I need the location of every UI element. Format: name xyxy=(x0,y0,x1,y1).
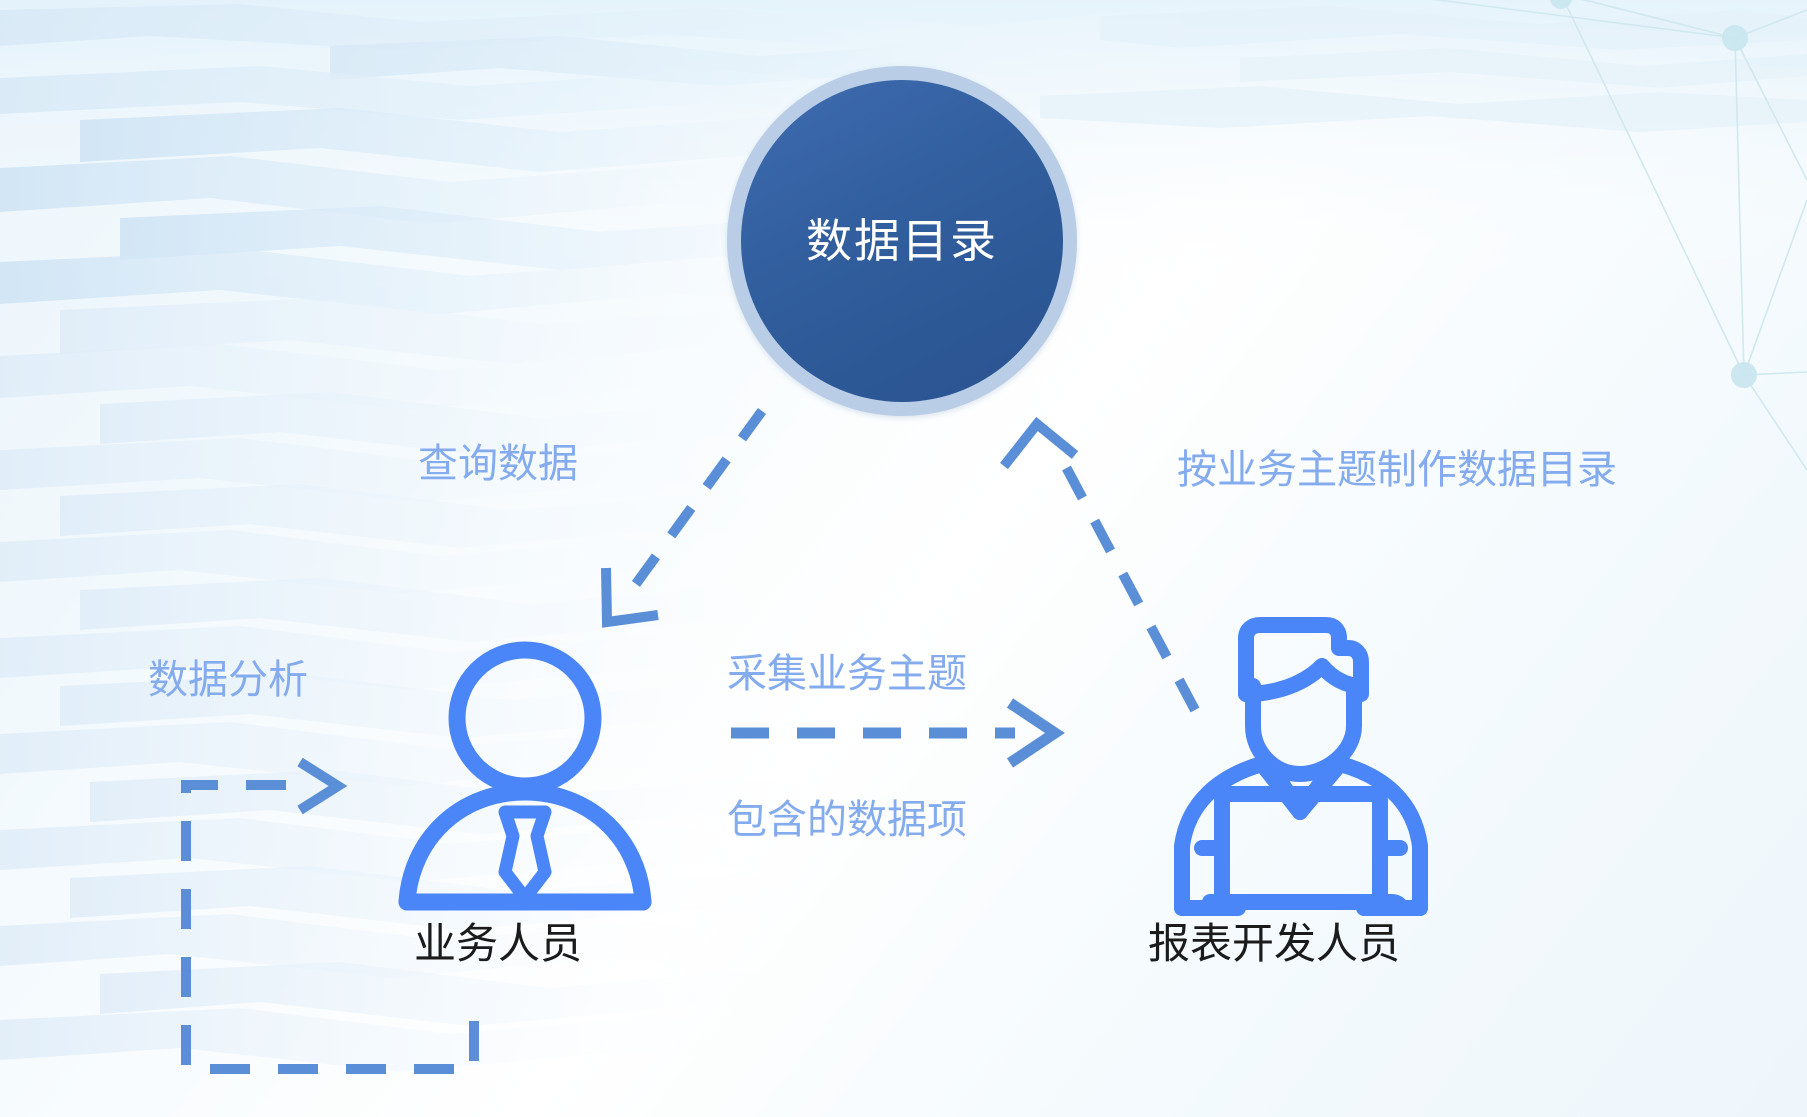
edge-label-collect-items-line1: 采集业务主题 xyxy=(727,650,967,699)
developer-with-laptop-icon xyxy=(1150,616,1450,916)
central-node-label: 数据目录 xyxy=(806,218,998,264)
central-node-disc: 数据目录 xyxy=(741,80,1063,402)
actor-label-report-developer: 报表开发人员 xyxy=(1148,923,1400,965)
edge-label-query-data: 查询数据 xyxy=(418,440,578,489)
diagram-canvas: 数据目录 xyxy=(0,0,1807,1117)
actor-label-business-person: 业务人员 xyxy=(414,923,582,965)
person-with-tie-icon xyxy=(385,640,665,915)
edge-label-build-catalog: 按业务主题制作数据目录 xyxy=(1177,446,1617,495)
central-node-data-catalog[interactable]: 数据目录 xyxy=(727,66,1077,416)
edge-label-collect-items-line2: 包含的数据项 xyxy=(727,796,967,845)
edge-label-data-analysis: 数据分析 xyxy=(148,656,308,705)
edge-label-collect-items: 采集业务主题 包含的数据项 xyxy=(727,552,967,942)
